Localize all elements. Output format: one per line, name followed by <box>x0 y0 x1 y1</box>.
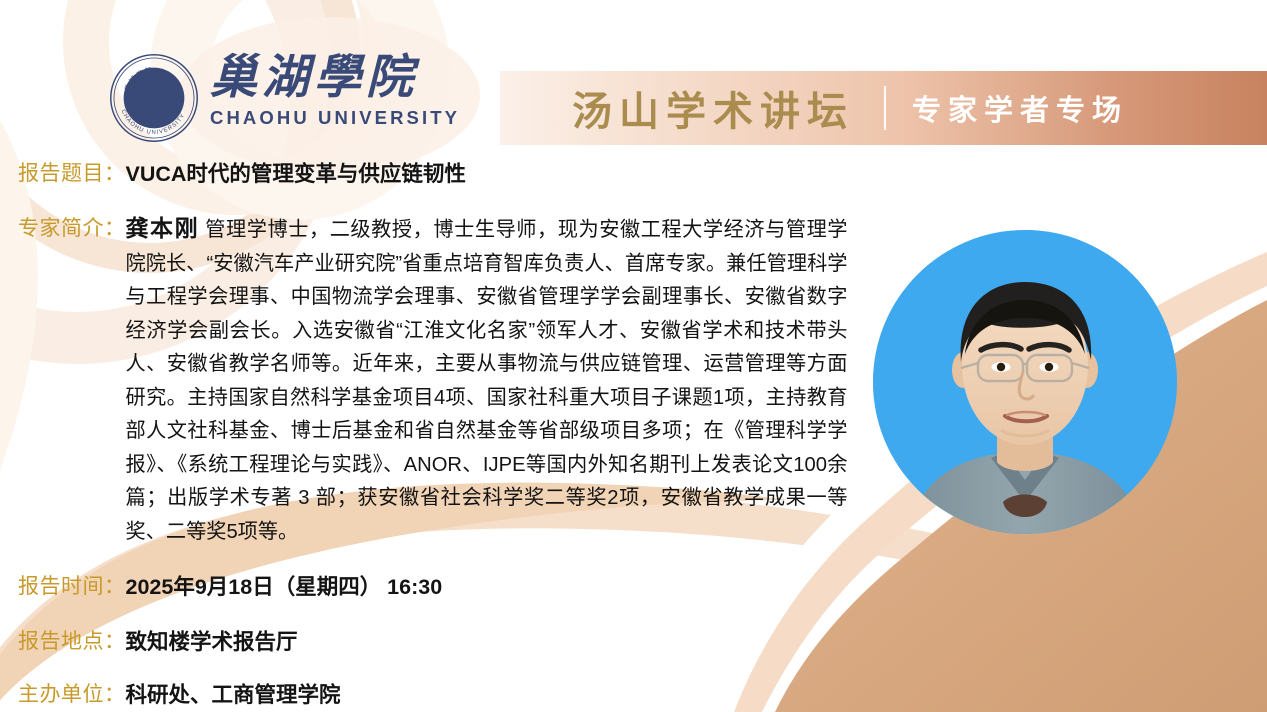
university-logo: 1977 巢 湖 学 院 CHAOHU UNIVERSITY 巢湖學院 CHAO… <box>108 52 460 144</box>
speaker-bio-row: 专家简介： 龚本刚 管理学博士，二级教授，博士生导师，现为安徽工程大学经济与管理… <box>18 212 878 549</box>
svg-text:1977: 1977 <box>149 110 159 115</box>
talk-place-value: 致知楼学术报告厅 <box>126 625 298 656</box>
talk-time-row: 报告时间： 2025年9月18日（星期四） 16:30 <box>18 570 442 601</box>
forum-banner: 汤山学术讲坛 专家学者专场 <box>500 71 1267 145</box>
talk-time-value: 2025年9月18日（星期四） 16:30 <box>126 570 443 601</box>
talk-place-label: 报告地点： <box>18 625 126 655</box>
speaker-name: 龚本刚 <box>126 215 200 241</box>
banner-title: 汤山学术讲坛 <box>572 79 854 137</box>
organizer-row: 主办单位： 科研处、工商管理学院 <box>18 678 341 709</box>
talk-time-label: 报告时间： <box>18 570 126 600</box>
logo-name-cn: 巢湖學院 <box>210 54 460 101</box>
talk-title-label: 报告题目： <box>18 157 126 187</box>
speaker-bio-text: 龚本刚 管理学博士，二级教授，博士生导师，现为安徽工程大学经济与管理学院院长、“… <box>126 212 848 549</box>
speaker-bio-body: 管理学博士，二级教授，博士生导师，现为安徽工程大学经济与管理学院院长、“安徽汽车… <box>126 219 848 543</box>
banner-subtitle: 专家学者专场 <box>912 87 1128 129</box>
portrait-photo <box>873 230 1177 534</box>
organizer-label: 主办单位： <box>18 678 126 708</box>
speaker-bio-label: 专家简介： <box>18 212 126 242</box>
logo-name-en: CHAOHU UNIVERSITY <box>210 107 460 129</box>
talk-title-value: VUCA时代的管理变革与供应链韧性 <box>126 157 466 188</box>
chaohu-university-seal-icon: 1977 巢 湖 学 院 CHAOHU UNIVERSITY <box>108 52 200 144</box>
organizer-value: 科研处、工商管理学院 <box>126 678 341 709</box>
talk-title-row: 报告题目： VUCA时代的管理变革与供应链韧性 <box>18 157 466 188</box>
talk-place-row: 报告地点： 致知楼学术报告厅 <box>18 625 298 656</box>
speaker-portrait <box>873 230 1177 534</box>
poster-canvas: 1977 巢 湖 学 院 CHAOHU UNIVERSITY 巢湖學院 CHAO… <box>0 0 1267 712</box>
banner-divider <box>884 86 886 130</box>
